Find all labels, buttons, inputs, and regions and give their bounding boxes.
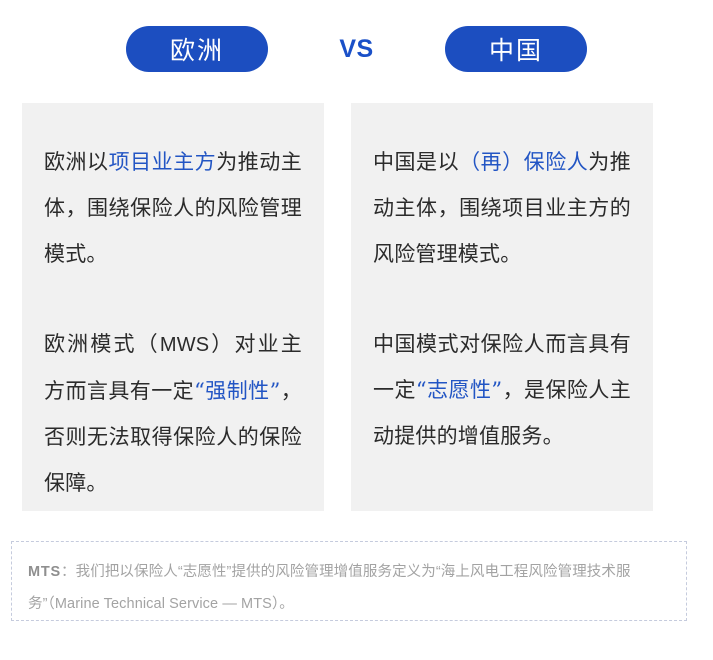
highlight-text: 项目业主方 <box>109 150 217 174</box>
panel-china: 中国是以（再）保险人为推动主体，围绕项目业主方的风险管理模式。 中国模式对保险人… <box>351 103 653 511</box>
highlight-text: “强制性” <box>194 379 280 403</box>
vs-separator-label: VS <box>268 35 445 64</box>
highlight-text: “志愿性” <box>416 378 502 402</box>
footnote-tag: MTS <box>28 564 61 580</box>
panel-europe-paragraph-2: 欧洲模式（MWS）对业主方而言具有一定“强制性”，否则无法取得保险人的保险保障。 <box>44 321 302 506</box>
footnote-body: ：我们把以保险人“志愿性”提供的风险管理增值服务定义为“海上风电工程风险管理技术… <box>28 564 631 612</box>
footnote-text: MTS：我们把以保险人“志愿性”提供的风险管理增值服务定义为“海上风电工程风险管… <box>28 556 670 620</box>
region-pill-europe-label: 欧洲 <box>170 31 224 67</box>
text-segment: 欧洲以 <box>44 150 109 174</box>
footnote-box: MTS：我们把以保险人“志愿性”提供的风险管理增值服务定义为“海上风电工程风险管… <box>11 541 687 621</box>
region-pill-europe[interactable]: 欧洲 <box>126 26 268 72</box>
text-segment: 中国是以 <box>373 150 459 174</box>
abbreviation-mws: MWS <box>160 334 209 356</box>
panel-europe: 欧洲以项目业主方为推动主体，围绕保险人的风险管理模式。 欧洲模式（MWS）对业主… <box>22 103 324 511</box>
panel-china-paragraph-1: 中国是以（再）保险人为推动主体，围绕项目业主方的风险管理模式。 <box>373 139 631 277</box>
panel-europe-paragraph-1: 欧洲以项目业主方为推动主体，围绕保险人的风险管理模式。 <box>44 139 302 277</box>
comparison-header: 欧洲 VS 中国 <box>0 0 713 98</box>
comparison-panels: 欧洲以项目业主方为推动主体，围绕保险人的风险管理模式。 欧洲模式（MWS）对业主… <box>22 103 653 511</box>
region-pill-china-label: 中国 <box>489 31 543 67</box>
panel-china-paragraph-2: 中国模式对保险人而言具有一定“志愿性”，是保险人主动提供的增值服务。 <box>373 321 631 459</box>
text-segment: 欧洲模式（ <box>44 332 160 356</box>
highlight-text: （再）保险人 <box>459 150 588 174</box>
region-pill-china[interactable]: 中国 <box>445 26 587 72</box>
